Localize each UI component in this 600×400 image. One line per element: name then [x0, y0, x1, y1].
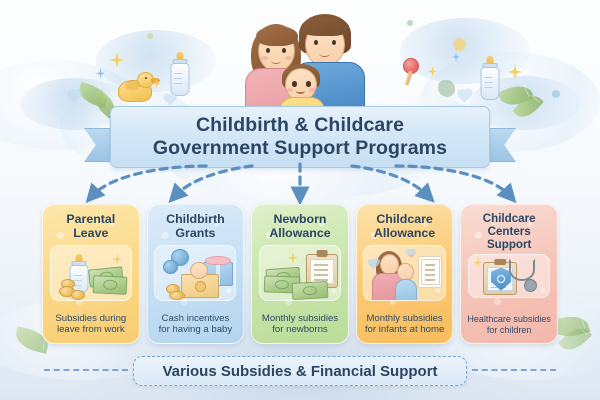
card-newborn-allowance[interactable]: Newborn Allowance Monthly subsidies for … — [251, 204, 349, 344]
card-title: Childbirth Grants — [148, 212, 244, 241]
card-desc-line1: Subsidies during — [55, 313, 126, 324]
sparkle-decoration — [508, 64, 522, 80]
mother-eye — [266, 48, 270, 53]
card-title-line3: Support — [487, 238, 531, 251]
infographic-poster: Childbirth & Childcare Government Suppor… — [0, 0, 600, 400]
card-title-line2: Centers — [488, 225, 531, 238]
baby-bottle-icon — [478, 56, 502, 104]
sparkle-decoration — [110, 52, 124, 68]
sparkle-decoration — [428, 66, 437, 77]
wheelchair-icon — [497, 275, 505, 283]
card-title-line1: Childcare — [376, 212, 432, 226]
gift-box-with-baby-icon — [154, 245, 236, 301]
baby-rattle-icon — [403, 58, 425, 88]
dot-decoration — [552, 90, 560, 98]
father-eye — [332, 40, 336, 45]
gift-ribbon-bow — [205, 256, 231, 265]
baby-body — [395, 279, 417, 301]
cloud-decoration — [96, 30, 216, 92]
card-desc-line2: for infants at home — [365, 324, 444, 335]
card-childcare-allowance[interactable]: Childcare Allowance Monthly subsidies fo… — [356, 204, 454, 344]
card-desc-line2: for having a baby — [159, 324, 233, 335]
cash-bill — [291, 281, 328, 300]
cash-bill — [92, 275, 127, 295]
card-childbirth-grants[interactable]: Childbirth Grants Cash incentives for ha… — [147, 204, 245, 344]
sparkle-decoration — [113, 254, 122, 265]
card-title: Newborn Allowance — [252, 212, 348, 241]
leaf-decoration — [498, 81, 535, 111]
card-title-line1: Newborn — [273, 212, 326, 226]
sparkle-decoration — [96, 68, 105, 79]
card-parental-leave[interactable]: Parental Leave Subsidies during leave fr… — [42, 204, 140, 344]
card-desc-line1: Healthcare subsidies — [467, 314, 551, 324]
card-description: Healthcare subsidies for children — [461, 314, 557, 336]
dot-decoration — [147, 33, 153, 39]
footer-dash-right — [472, 369, 556, 371]
sparkle-decoration — [452, 52, 460, 62]
dot-decoration — [453, 38, 466, 51]
card-title-line2: Leave — [73, 226, 108, 240]
heart-decoration — [458, 90, 471, 103]
footer-banner: Various Subsidies & Financial Support — [133, 356, 467, 386]
medical-clipboard-stethoscope-icon — [468, 254, 550, 298]
sparkle-decoration — [288, 252, 298, 264]
clipboard-grip — [316, 250, 327, 257]
baby-blush — [287, 88, 293, 92]
father-eye — [314, 40, 318, 45]
cash-and-clipboard-icon — [259, 245, 341, 301]
mother-mouth — [271, 58, 281, 64]
card-desc-line1: Monthly subsidies — [366, 313, 442, 324]
heart-decoration — [407, 250, 415, 258]
card-title-line1: Childbirth — [166, 212, 225, 226]
footer-banner-label: Various Subsidies & Financial Support — [162, 363, 437, 380]
card-title: Childcare Allowance — [357, 212, 453, 241]
arrow-to-card-5 — [396, 166, 510, 196]
baby-mouth — [296, 88, 305, 94]
card-title-line1: Childcare — [483, 212, 536, 225]
mother-bangs — [256, 26, 298, 46]
baby-eye — [306, 81, 311, 87]
baby-head — [190, 262, 208, 279]
card-desc-line1: Cash incentives — [162, 313, 230, 324]
program-cards-row: Parental Leave Subsidies during leave fr… — [42, 204, 558, 344]
card-description: Subsidies during leave from work — [43, 313, 139, 336]
heart-decoration — [68, 90, 81, 103]
rubber-duck-icon — [118, 72, 162, 102]
card-description: Cash incentives for having a baby — [148, 313, 244, 336]
mother-and-baby-icon — [363, 245, 445, 301]
card-desc-line2: for newborns — [272, 324, 327, 335]
arrow-to-card-2 — [175, 166, 252, 196]
page-title-line1: Childbirth & Childcare — [196, 114, 404, 137]
leaf-decoration — [76, 82, 110, 108]
page-title-line2: Government Support Programs — [153, 137, 447, 160]
card-childcare-centers-support[interactable]: Childcare Centers Support Healthcare sub… — [460, 204, 558, 344]
baby-blush — [309, 88, 315, 92]
card-desc-line1: Monthly subsidies — [262, 313, 338, 324]
baby-eye — [292, 81, 297, 87]
card-title-line2: Allowance — [269, 226, 330, 240]
arrow-to-card-4 — [352, 166, 428, 196]
card-title-line2: Allowance — [374, 226, 435, 240]
dot-decoration — [438, 80, 455, 97]
card-title-line2: Grants — [175, 226, 215, 240]
heart-decoration — [164, 94, 175, 105]
mother-blush — [261, 56, 268, 60]
card-desc-line2: for children — [487, 325, 532, 335]
card-description: Monthly subsidies for infants at home — [357, 313, 453, 336]
document-paper — [418, 256, 442, 288]
dot-decoration — [407, 20, 413, 26]
footer-dash-left — [44, 369, 128, 371]
cloud-decoration — [400, 18, 530, 84]
card-title: Parental Leave — [43, 212, 139, 241]
paper-lines — [421, 259, 439, 285]
coin — [71, 290, 85, 300]
father-fringe — [301, 18, 349, 36]
baby-bottle-and-cash-icon — [50, 245, 132, 301]
sparkle-decoration — [152, 78, 161, 89]
mother-eye — [282, 48, 286, 53]
card-desc-line2: leave from work — [57, 324, 125, 335]
coin — [169, 291, 185, 300]
clipboard-grip — [494, 259, 506, 265]
baby-bottle-icon — [168, 52, 192, 100]
main-title-banner: Childbirth & Childcare Government Suppor… — [110, 106, 490, 168]
arrow-to-card-1 — [92, 166, 206, 196]
balloon — [163, 260, 178, 274]
card-title-line1: Parental — [66, 212, 115, 226]
card-description: Monthly subsidies for newborns — [252, 313, 348, 336]
card-title: Childcare Centers Support — [461, 212, 557, 252]
stethoscope-tube — [509, 259, 535, 281]
mother-blush — [285, 56, 292, 60]
father-mouth — [319, 51, 330, 57]
leaf-decoration — [558, 322, 592, 356]
banner-face: Childbirth & Childcare Government Suppor… — [110, 106, 490, 168]
stethoscope-bell — [524, 279, 537, 292]
leaf-decoration — [512, 90, 543, 122]
sparkle-decoration — [474, 258, 482, 268]
